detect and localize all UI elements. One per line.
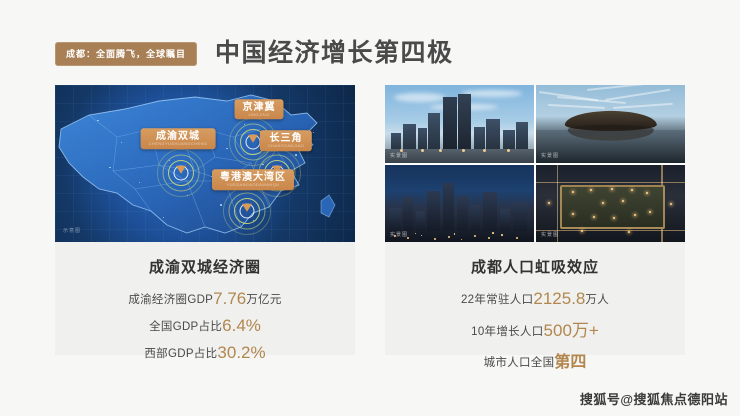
photo-chengdu-opera-house-waterfront[interactable]: 实景图 bbox=[536, 85, 685, 163]
stat-prefix: 10年增长人口 bbox=[471, 326, 543, 338]
map-marker-chengyu[interactable] bbox=[158, 150, 204, 196]
photo-watermark: 实景图 bbox=[541, 231, 559, 238]
header: 成都：全面腾飞，全球瞩目 中国经济增长第四极 bbox=[55, 41, 454, 66]
stat-value: 6.4% bbox=[222, 316, 261, 335]
stat-prefix: 西部GDP占比 bbox=[144, 348, 217, 360]
stat-prefix: 全国GDP占比 bbox=[149, 321, 222, 333]
map-watermark: 示意图 bbox=[63, 227, 81, 234]
china-map: 京津冀 JINGJINJI 成渝双城 CHENGYUSHUANGCHENG 长三… bbox=[55, 85, 355, 242]
map-pin-icon bbox=[248, 134, 258, 142]
page-title: 中国经济增长第四极 bbox=[215, 41, 454, 66]
map-pin-icon bbox=[242, 203, 252, 211]
photo-chengdu-twin-towers-daytime[interactable]: 实景图 bbox=[385, 85, 534, 163]
zone-label-changsanjiao[interactable]: 长三角 CHANGSANJIAO bbox=[260, 130, 312, 151]
zone-label-greater-bay-area[interactable]: 粤港澳大湾区 YUEGANGAODAWANQU bbox=[212, 169, 294, 190]
stat-value: 500万+ bbox=[544, 321, 599, 340]
stat-row: 10年增长人口500万+ bbox=[471, 316, 599, 341]
photo-chengdu-skyline-night[interactable]: 实景图 bbox=[385, 165, 534, 243]
left-caption-title: 成渝双城经济圈 bbox=[149, 256, 261, 277]
map-light-dots bbox=[55, 85, 355, 242]
photo-chengdu-plaza-aerial-night[interactable]: 实景图 bbox=[536, 165, 685, 243]
stat-row: 全国GDP占比6.4% bbox=[149, 316, 261, 336]
stat-value: 30.2% bbox=[217, 343, 265, 362]
photo-grid-media: 实景图 实景图 bbox=[385, 85, 685, 242]
header-badge: 成都：全面腾飞，全球瞩目 bbox=[55, 42, 197, 66]
left-caption: 成渝双城经济圈 成渝经济圈GDP7.76万亿元 全国GDP占比6.4% 西部GD… bbox=[55, 242, 355, 355]
stat-row: 西部GDP占比30.2% bbox=[144, 343, 265, 363]
footer-watermark: 搜狐号@搜狐焦点德阳站 bbox=[580, 389, 728, 408]
card-chengyu-economic-circle: 京津冀 JINGJINJI 成渝双城 CHENGYUSHUANGCHENG 长三… bbox=[55, 85, 355, 355]
zone-label-en: CHENGYUSHUANGCHENG bbox=[149, 143, 208, 148]
stat-value: 2125.8 bbox=[533, 289, 585, 308]
right-caption-title: 成都人口虹吸效应 bbox=[471, 256, 599, 277]
stat-row: 22年常驻人口2125.8万人 bbox=[461, 289, 609, 309]
stat-prefix: 22年常驻人口 bbox=[461, 294, 533, 306]
zone-label-en: YUEGANGAODAWANQU bbox=[220, 183, 286, 188]
stat-value: 第四 bbox=[554, 354, 586, 371]
slide-root: 成都：全面腾飞，全球瞩目 中国经济增长第四极 bbox=[0, 0, 740, 416]
china-map-media: 京津冀 JINGJINJI 成渝双城 CHENGYUSHUANGCHENG 长三… bbox=[55, 85, 355, 242]
photo-grid: 实景图 实景图 bbox=[385, 85, 685, 242]
photo-watermark: 实景图 bbox=[390, 152, 408, 159]
zone-label-chengyu[interactable]: 成渝双城 CHENGYUSHUANGCHENG bbox=[141, 129, 216, 150]
stat-suffix: 万亿元 bbox=[246, 294, 281, 306]
stat-row: 成渝经济圈GDP7.76万亿元 bbox=[128, 289, 281, 309]
stat-prefix: 成渝经济圈GDP bbox=[128, 294, 213, 306]
photo-watermark: 实景图 bbox=[541, 152, 559, 159]
zone-label-en: JINGJINJI bbox=[243, 113, 276, 118]
right-caption: 成都人口虹吸效应 22年常驻人口2125.8万人 10年增长人口500万+ 城市… bbox=[385, 242, 685, 355]
zone-label-jingjinji[interactable]: 京津冀 JINGJINJI bbox=[235, 99, 284, 120]
stat-suffix: 万人 bbox=[585, 294, 609, 306]
stat-value: 7.76 bbox=[213, 289, 246, 308]
map-pin-icon bbox=[176, 166, 186, 174]
map-marker-greater-bay-area[interactable] bbox=[224, 188, 270, 234]
zone-label-en: CHANGSANJIAO bbox=[268, 144, 304, 149]
photo-watermark: 实景图 bbox=[390, 231, 408, 238]
stat-prefix: 城市人口全国 bbox=[484, 357, 555, 369]
stat-row: 城市人口全国第四 bbox=[484, 348, 587, 372]
card-chengdu-population: 实景图 实景图 bbox=[385, 85, 685, 355]
